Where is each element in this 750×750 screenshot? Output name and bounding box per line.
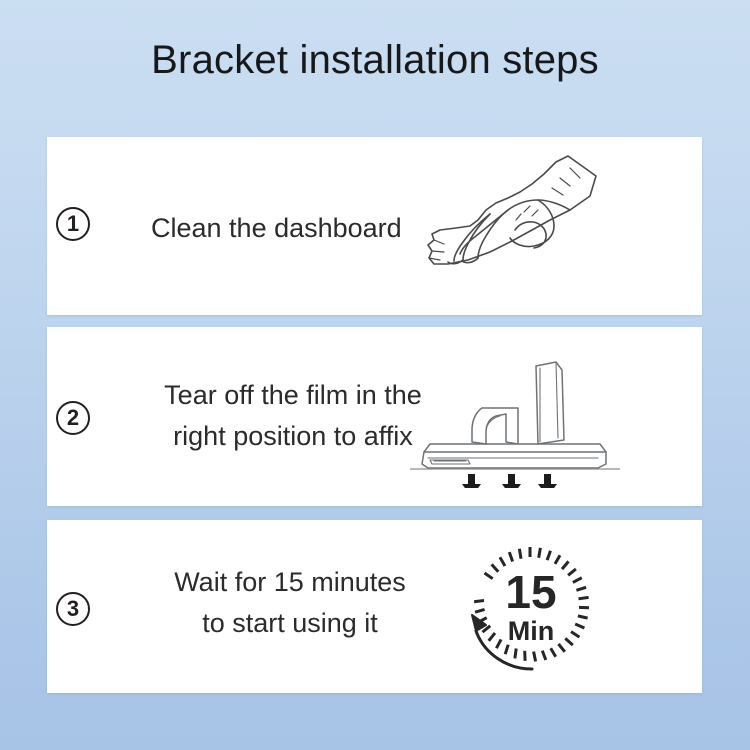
step-label-1: Clean the dashboard [151,208,402,249]
page-title: Bracket installation steps [0,34,750,86]
hand-wiping-cloth-illustration [420,148,610,273]
step-label-3-line1: Wait for 15 minutes [155,562,425,603]
step-label-2-line2: right position to affix [153,416,433,457]
timer-value-text: 15 [505,566,556,618]
step-label-2: Tear off the film in the right position … [153,375,433,457]
press-down-arrows [462,474,557,488]
bracket-base-press-down-illustration [410,348,620,488]
timer-unit-text: Min [508,616,555,646]
step-number-badge-3: 3 [56,592,90,626]
infographic-page: Bracket installation steps 1 Clean the d… [0,0,750,750]
step-label-3-line2: to start using it [155,603,425,644]
step-label-3: Wait for 15 minutes to start using it [155,562,425,644]
step-number-badge-2: 2 [56,401,90,435]
timer-15-min-illustration: 15 Min [460,535,600,675]
step-number-badge-1: 1 [56,207,90,241]
step-label-2-line1: Tear off the film in the [153,375,433,416]
